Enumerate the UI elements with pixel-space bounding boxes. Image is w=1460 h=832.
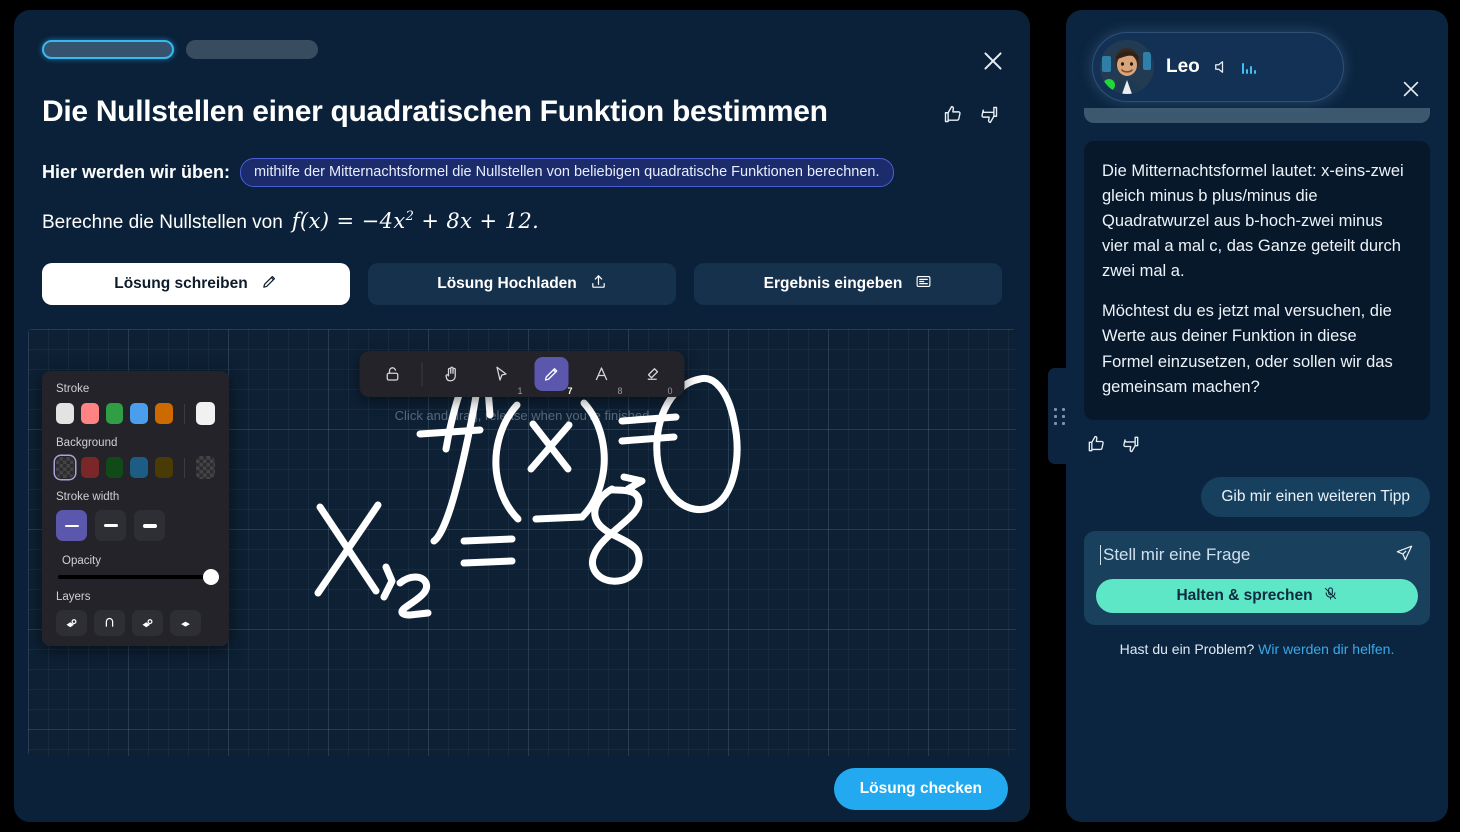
write-solution-label: Lösung schreiben (114, 275, 248, 293)
text-icon[interactable]: 8 (585, 357, 619, 391)
close-chat-button[interactable] (1400, 78, 1422, 100)
exercise-footer: Lösung checken (14, 756, 1030, 822)
chat-help-footer: Hast du ein Problem? Wir werden dir helf… (1084, 625, 1430, 679)
opacity-label: Opacity (62, 555, 215, 567)
mic-icon (1323, 586, 1338, 606)
task-formula: f(x) = −4x2 + 8x + 12. (292, 209, 539, 233)
push-to-talk-button[interactable]: Halten & sprechen (1096, 579, 1418, 613)
subtitle-label: Hier werden wir üben: (42, 162, 230, 183)
send-to-back-icon[interactable] (56, 610, 87, 636)
stroke-width-thin[interactable] (56, 510, 87, 541)
suggestion-row: Gib mir einen weiteren Tipp (1084, 459, 1430, 517)
layers-options[interactable] (56, 610, 215, 636)
check-solution-button[interactable]: Lösung checken (834, 768, 1008, 810)
progress-indicator (14, 10, 1030, 59)
enter-result-button[interactable]: Ergebnis eingeben (694, 263, 1002, 305)
assistant-paragraph-1: Die Mitternachtsformel lautet: x-eins-zw… (1102, 159, 1412, 284)
waveform-icon[interactable] (1242, 61, 1256, 74)
panel-resize-handle[interactable] (1048, 368, 1070, 464)
upload-solution-button[interactable]: Lösung Hochladen (368, 263, 676, 305)
solution-actions: Lösung schreiben Lösung Hochladen Ergebn… (14, 234, 1030, 305)
thumbs-up-icon[interactable] (1086, 434, 1106, 459)
task-statement: Berechne die Nullstellen von f(x) = −4x2… (14, 187, 1030, 234)
text-shortcut: 8 (617, 386, 622, 396)
stroke-width-options[interactable] (56, 510, 215, 541)
bring-to-front-icon[interactable] (170, 610, 201, 636)
background-swatches[interactable] (56, 456, 215, 479)
page-title: Die Nullstellen einer quadratischen Funk… (42, 95, 942, 130)
assistant-paragraph-2: Möchtest du es jetzt mal versuchen, die … (1102, 299, 1412, 399)
chat-header: Leo (1066, 10, 1448, 108)
background-color-green[interactable] (106, 457, 124, 478)
send-icon[interactable] (1395, 543, 1414, 567)
speaker-icon[interactable] (1212, 58, 1230, 76)
stroke-color-red[interactable] (81, 403, 99, 424)
drawing-properties-panel[interactable]: Stroke Background (42, 371, 229, 646)
opacity-slider-knob[interactable] (203, 569, 219, 585)
suggestion-chip[interactable]: Gib mir einen weiteren Tipp (1201, 477, 1430, 517)
chat-input-card: Stell mir eine Frage Halten & sprechen (1084, 531, 1430, 625)
online-status-dot (1103, 79, 1115, 91)
chat-messages: nochmal? Die Mitternachtsformel lautet: … (1066, 108, 1448, 822)
thumbs-down-icon[interactable] (979, 104, 1000, 130)
eraser-shortcut: 0 (667, 386, 672, 396)
stroke-color-orange[interactable] (155, 403, 173, 424)
hand-icon[interactable] (435, 357, 469, 391)
push-to-talk-label: Halten & sprechen (1176, 587, 1312, 605)
stroke-width-label: Stroke width (56, 491, 215, 503)
help-link[interactable]: Wir werden dir helfen. (1258, 641, 1394, 657)
pencil-icon (261, 273, 278, 295)
bring-forward-icon[interactable] (132, 610, 163, 636)
stroke-color-blue[interactable] (130, 403, 148, 424)
stroke-color-current[interactable] (196, 402, 215, 425)
keyboard-icon (915, 273, 932, 295)
stroke-color-white[interactable] (56, 403, 74, 424)
progress-step-1[interactable] (42, 40, 174, 59)
eraser-icon[interactable]: 0 (635, 357, 669, 391)
drag-dots-icon (1054, 408, 1065, 425)
drawing-toolbar[interactable]: 1 7 8 0 (360, 351, 685, 397)
user-message-bubble: nochmal? (1084, 108, 1430, 123)
swatch-divider (184, 404, 185, 424)
message-rating (1084, 420, 1430, 459)
upload-icon (590, 273, 607, 295)
task-prefix: Berechne die Nullstellen von (42, 212, 283, 234)
background-color-blue[interactable] (130, 457, 148, 478)
stroke-color-green[interactable] (106, 403, 124, 424)
background-label: Background (56, 437, 215, 449)
upload-solution-label: Lösung Hochladen (437, 275, 577, 293)
background-color-current[interactable] (196, 456, 215, 479)
layers-label: Layers (56, 591, 215, 603)
help-question: Hast du ein Problem? (1120, 641, 1255, 657)
send-backward-icon[interactable] (94, 610, 125, 636)
enter-result-label: Ergebnis eingeben (764, 275, 903, 293)
stroke-swatches[interactable] (56, 402, 215, 425)
exercise-panel: Die Nullstellen einer quadratischen Funk… (14, 10, 1030, 822)
thumbs-down-icon[interactable] (1121, 434, 1141, 459)
progress-step-2[interactable] (186, 40, 318, 59)
assistant-message-bubble: Die Mitternachtsformel lautet: x-eins-zw… (1084, 141, 1430, 420)
close-exercise-button[interactable] (980, 48, 1006, 74)
selection-shortcut: 1 (517, 386, 522, 396)
learning-goal-pill: mithilfe der Mitternachtsformel die Null… (240, 158, 893, 187)
background-color-yellow[interactable] (155, 457, 173, 478)
background-color-red[interactable] (81, 457, 99, 478)
selection-icon[interactable]: 1 (485, 357, 519, 391)
chat-input[interactable]: Stell mir eine Frage (1100, 545, 1250, 565)
lock-icon[interactable] (376, 357, 410, 391)
assistant-name: Leo (1166, 56, 1200, 78)
stroke-width-medium[interactable] (95, 510, 126, 541)
stroke-width-bold[interactable] (134, 510, 165, 541)
drawing-canvas[interactable]: Click and drag, release when you're fini… (28, 329, 1016, 756)
stroke-label: Stroke (56, 383, 215, 395)
avatar (1100, 40, 1154, 94)
chat-panel: Leo nochmal? Die Mitternachtsformel laut… (1066, 10, 1448, 822)
thumbs-up-icon[interactable] (942, 104, 963, 130)
app-root: Die Nullstellen einer quadratischen Funk… (0, 0, 1460, 832)
opacity-slider[interactable] (58, 575, 213, 579)
write-solution-button[interactable]: Lösung schreiben (42, 263, 350, 305)
assistant-capsule[interactable]: Leo (1092, 32, 1344, 102)
swatch-divider (184, 458, 185, 478)
background-color-transparent[interactable] (56, 457, 74, 478)
pencil-shortcut: 7 (567, 386, 572, 396)
pencil-icon[interactable]: 7 (535, 357, 569, 391)
